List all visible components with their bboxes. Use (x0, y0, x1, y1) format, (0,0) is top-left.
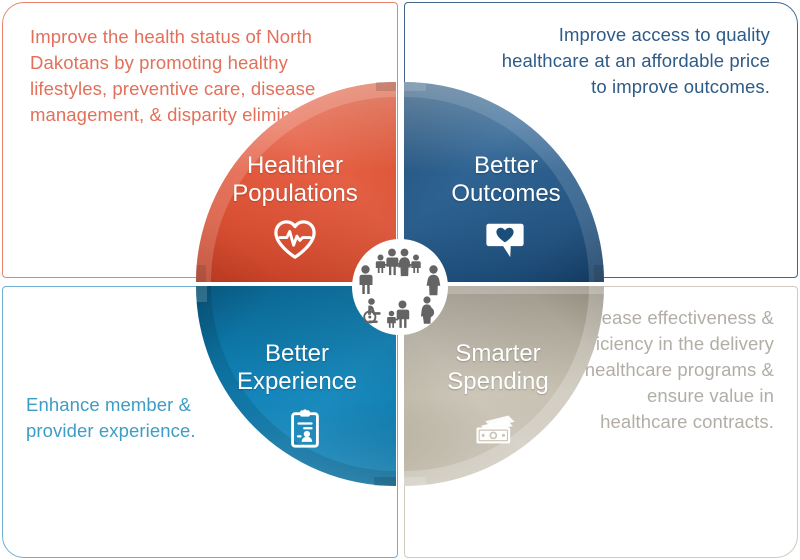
description-better-experience: Enhance member & provider experience. (26, 392, 206, 444)
wedge-label-better-experience: Better Experience (212, 340, 382, 396)
description-smarter-spending: Increase effectiveness & efficiency in t… (556, 305, 774, 434)
banknotes-icon (473, 410, 519, 452)
description-better-outcomes: Improve access to quality healthcare at … (500, 22, 770, 100)
center-people-hub (351, 238, 449, 336)
heart-pulse-icon (272, 218, 318, 260)
diagram-canvas: Improve the health status of North Dakot… (0, 0, 800, 560)
wedge-label-healthier-populations: Healthier Populations (210, 152, 380, 208)
description-healthier-populations: Improve the health status of North Dakot… (30, 24, 360, 128)
wedge-label-smarter-spending: Smarter Spending (413, 340, 583, 396)
speech-bubble-heart-icon (482, 218, 528, 260)
wedge-label-better-outcomes: Better Outcomes (421, 152, 591, 208)
clipboard-person-icon (282, 408, 328, 450)
